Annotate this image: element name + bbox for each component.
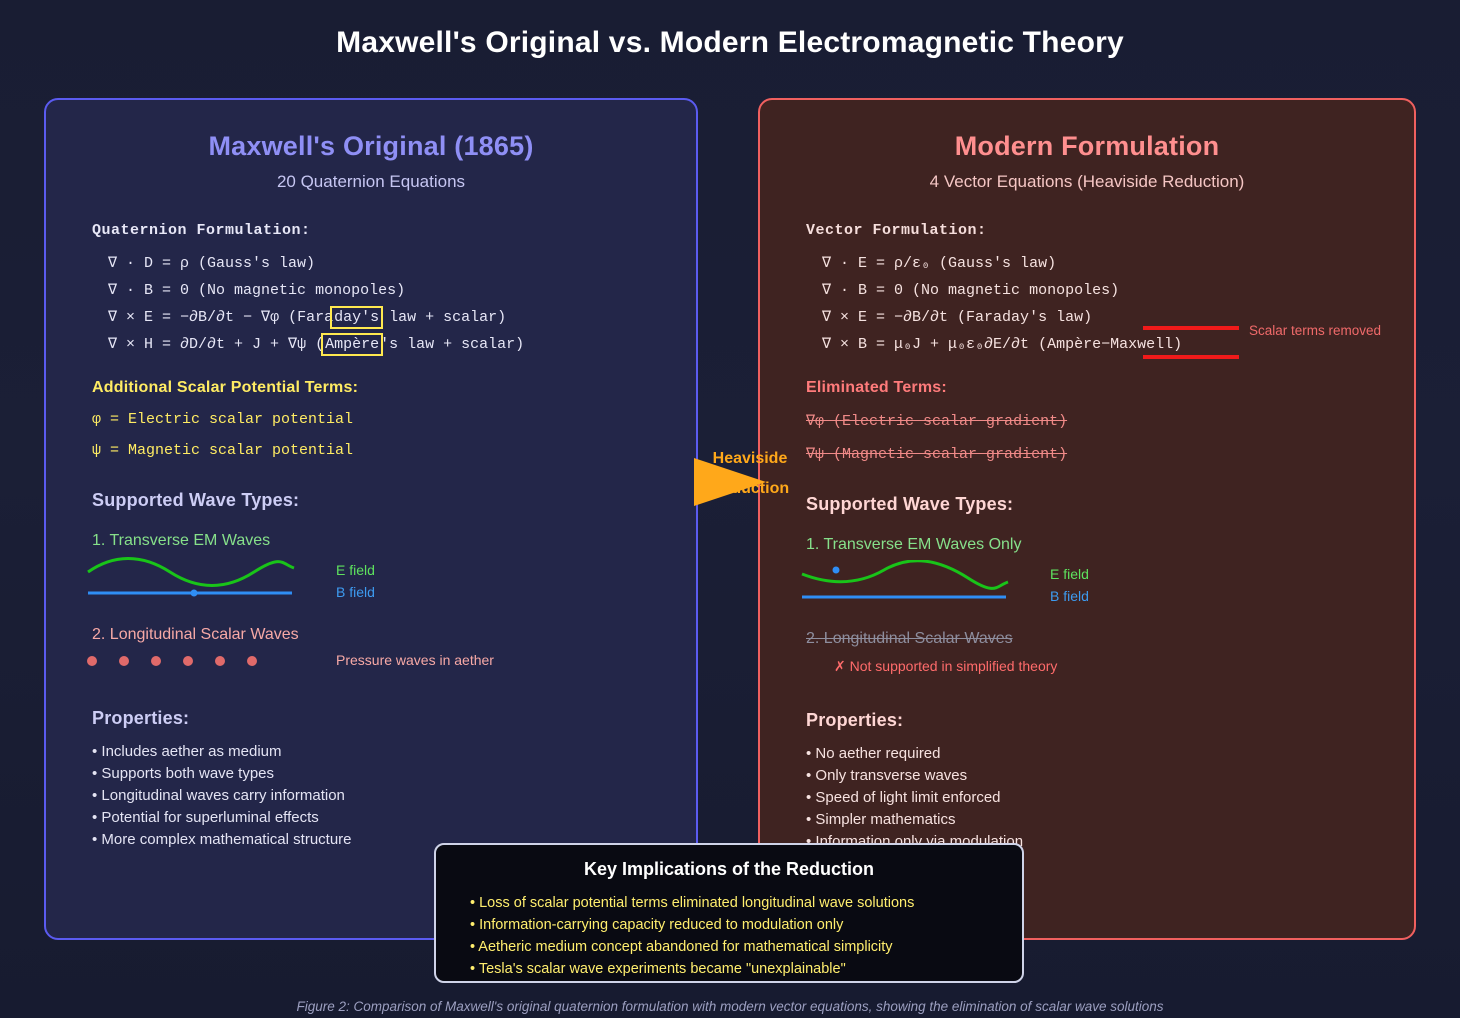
property-item: • Supports both wave types: [92, 763, 696, 785]
scalar-terms-removed-note: Scalar terms removed: [1249, 323, 1381, 338]
key-implication-item: • Aetheric medium concept abandoned for …: [470, 936, 1022, 958]
scalar-term-item: ψ = Magnetic scalar potential: [92, 442, 696, 459]
left-properties-list: • Includes aether as medium • Supports b…: [92, 741, 696, 851]
equation-text-pre: ∇ × H = ∂D/∂t + J + ∇ψ (: [108, 336, 324, 353]
right-properties-heading: Properties:: [806, 710, 1414, 731]
eliminated-term-item: ∇φ (Electric scalar gradient): [806, 411, 1414, 430]
equation-text-pre: ∇ × E = −∂B/∂t − ∇φ (Fara: [108, 309, 333, 326]
key-implication-item: • Tesla's scalar wave experiments became…: [470, 958, 1022, 980]
heaviside-reduction-arrow: Heaviside Reduction: [690, 440, 810, 512]
page-title: Maxwell's Original vs. Modern Electromag…: [0, 26, 1460, 60]
strike-line-faraday: [1143, 326, 1239, 330]
equation-row: ∇ · B = 0 (No magnetic monopoles): [822, 280, 1414, 299]
strike-line-ampere: [1143, 355, 1239, 359]
right-panel-body: Vector Formulation: ∇ · E = ρ/ε₀ (Gauss'…: [760, 222, 1414, 853]
b-field-tag: B field: [1050, 588, 1089, 604]
property-item: • No aether required: [806, 743, 1414, 765]
left-panel-body: Quaternion Formulation: ∇ · D = ρ (Gauss…: [46, 222, 696, 851]
left-panel-title: Maxwell's Original (1865): [46, 131, 696, 162]
key-implications-box: Key Implications of the Reduction • Loss…: [434, 843, 1024, 983]
b-field-marker-dot: [191, 590, 198, 597]
figure-caption: Figure 2: Comparison of Maxwell's origin…: [0, 999, 1460, 1014]
equation-row: ∇ × E = −∂B/∂t − ∇φ (Faraday's law + sca…: [108, 307, 696, 326]
equation-text-post: 's law + scalar): [380, 336, 524, 353]
key-implications-title: Key Implications of the Reduction: [436, 859, 1022, 880]
equation-text-post: law + scalar): [380, 309, 506, 326]
scalar-term-item: φ = Electric scalar potential: [92, 411, 696, 428]
figure-canvas: Maxwell's Original vs. Modern Electromag…: [0, 0, 1460, 1018]
highlight-box-ampere: Ampère: [324, 336, 380, 353]
property-item: • Potential for superluminal effects: [92, 807, 696, 829]
e-field-tag: E field: [336, 562, 375, 578]
panel-maxwell-original: Maxwell's Original (1865) 20 Quaternion …: [44, 98, 698, 940]
scalar-terms-heading: Additional Scalar Potential Terms:: [92, 379, 696, 397]
equation-row: ∇ · B = 0 (No magnetic monopoles): [108, 280, 696, 299]
b-field-tag: B field: [336, 584, 375, 600]
eliminated-terms-heading: Eliminated Terms:: [806, 379, 1414, 397]
left-properties-heading: Properties:: [92, 708, 696, 729]
wave-type-1-label: 1. Transverse EM Waves Only: [806, 536, 1414, 554]
right-properties-list: • No aether required • Only transverse w…: [806, 743, 1414, 853]
pressure-dots-icon: [86, 652, 306, 670]
wave-type-2-label: 2. Longitudinal Scalar Waves: [92, 626, 696, 644]
equation-row: ∇ × H = ∂D/∂t + J + ∇ψ (Ampère's law + s…: [108, 334, 696, 353]
wave-sine-icon: [86, 556, 306, 602]
property-item: • Speed of light limit enforced: [806, 787, 1414, 809]
property-item: • Simpler mathematics: [806, 809, 1414, 831]
equation-row: ∇ · D = ρ (Gauss's law): [108, 253, 696, 272]
left-wave-types-heading: Supported Wave Types:: [92, 490, 696, 511]
property-item: • Only transverse waves: [806, 765, 1414, 787]
wave-type-2-label-disabled: 2. Longitudinal Scalar Waves: [806, 630, 1414, 648]
not-supported-note: ✗ Not supported in simplified theory: [834, 658, 1057, 675]
left-panel-subtitle: 20 Quaternion Equations: [46, 172, 696, 192]
e-field-marker-dot: [833, 567, 840, 574]
equation-row: ∇ · E = ρ/ε₀ (Gauss's law): [822, 253, 1414, 272]
arrow-right-triangle-icon: [690, 440, 810, 512]
pressure-wave-note: Pressure waves in aether: [336, 652, 494, 668]
key-implication-item: • Loss of scalar potential terms elimina…: [470, 892, 1022, 914]
right-formulation-heading: Vector Formulation:: [806, 222, 1414, 239]
eliminated-term-item: ∇ψ (Magnetic scalar gradient): [806, 444, 1414, 463]
transverse-wave-diagram-right: E field B field: [806, 558, 1414, 610]
property-item: • Includes aether as medium: [92, 741, 696, 763]
wave-sine-icon: [800, 560, 1020, 606]
e-field-tag: E field: [1050, 566, 1089, 582]
key-implication-item: • Information-carrying capacity reduced …: [470, 914, 1022, 936]
wave-type-1-label: 1. Transverse EM Waves: [92, 532, 696, 550]
longitudinal-wave-diagram-left: Pressure waves in aether: [92, 652, 696, 682]
right-panel-subtitle: 4 Vector Equations (Heaviside Reduction): [760, 172, 1414, 192]
key-implications-list: • Loss of scalar potential terms elimina…: [470, 892, 1022, 980]
highlight-box-faradays: day's: [333, 309, 380, 326]
property-item: • Longitudinal waves carry information: [92, 785, 696, 807]
right-panel-title: Modern Formulation: [760, 131, 1414, 162]
panel-modern-formulation: Modern Formulation 4 Vector Equations (H…: [758, 98, 1416, 940]
not-supported-row: ✗ Not supported in simplified theory: [806, 658, 1414, 688]
left-formulation-heading: Quaternion Formulation:: [92, 222, 696, 239]
right-wave-types-heading: Supported Wave Types:: [806, 494, 1414, 515]
transverse-wave-diagram-left: E field B field: [92, 554, 696, 606]
